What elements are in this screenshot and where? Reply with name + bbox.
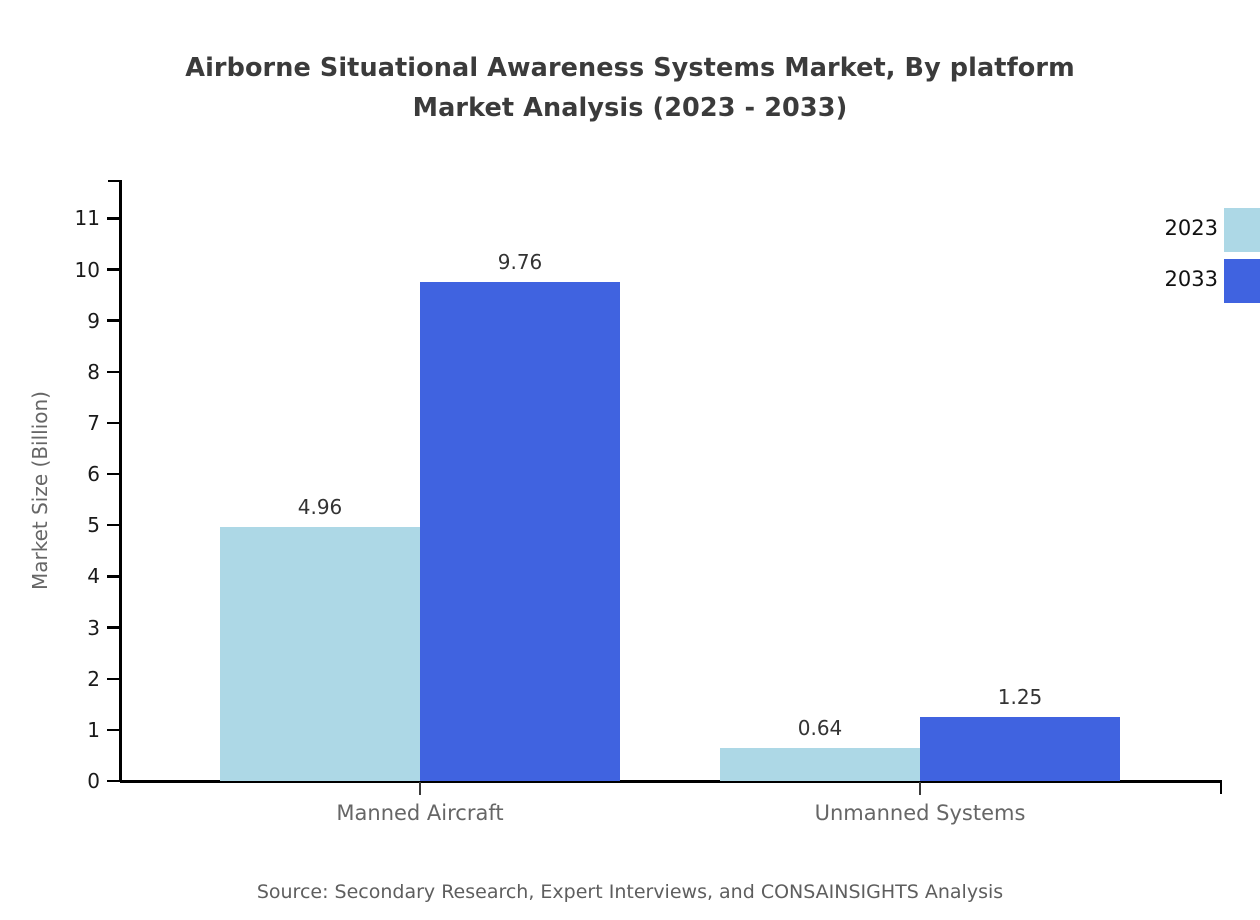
x-axis-right-cap [1220, 781, 1223, 794]
y-tick-mark [107, 575, 120, 577]
y-tick-mark [107, 780, 120, 782]
bar-value-label: 0.64 [720, 715, 920, 741]
y-tick-mark [107, 473, 120, 475]
legend-item-2033[interactable]: 2033 [1110, 259, 1260, 305]
legend-label: 2023 [1110, 214, 1218, 242]
x-tick-label: Unmanned Systems [720, 798, 1120, 828]
legend-item-2023[interactable]: 2023 [1110, 208, 1260, 254]
y-axis-top-cap [108, 180, 122, 182]
x-tick-mark [419, 782, 422, 795]
chart-title-line-2: Market Analysis (2023 - 2033) [0, 88, 1260, 128]
y-tick-mark [107, 524, 120, 526]
y-tick-mark [107, 422, 120, 424]
y-tick-label: 3 [40, 614, 100, 642]
bar-value-label: 9.76 [420, 249, 620, 275]
bar-value-label: 4.96 [220, 494, 420, 520]
bar-2023-unmanned-systems[interactable] [720, 748, 920, 781]
legend-label: 2033 [1110, 265, 1218, 293]
chart-title: Airborne Situational Awareness Systems M… [0, 48, 1260, 128]
y-tick-label: 11 [40, 204, 100, 232]
y-tick-mark [107, 729, 120, 731]
y-tick-label: 7 [40, 409, 100, 437]
x-tick-mark [919, 782, 922, 795]
chart-figure: Airborne Situational Awareness Systems M… [0, 0, 1260, 920]
legend-swatch [1224, 208, 1260, 252]
y-tick-mark [107, 626, 120, 628]
y-tick-label: 6 [40, 460, 100, 488]
y-tick-mark [107, 319, 120, 321]
y-tick-mark [107, 371, 120, 373]
y-tick-mark [107, 217, 120, 219]
bar-2023-manned-aircraft[interactable] [220, 527, 420, 781]
y-tick-label: 0 [40, 767, 100, 795]
bar-2033-manned-aircraft[interactable] [420, 282, 620, 781]
y-tick-label: 1 [40, 716, 100, 744]
bar-2033-unmanned-systems[interactable] [920, 717, 1120, 781]
y-tick-label: 9 [40, 307, 100, 335]
y-tick-mark [107, 678, 120, 680]
x-tick-label: Manned Aircraft [220, 798, 620, 828]
chart-legend: 20232033 [1110, 208, 1260, 308]
source-note: Source: Secondary Research, Expert Inter… [0, 878, 1260, 906]
y-tick-label: 2 [40, 665, 100, 693]
y-tick-label: 4 [40, 562, 100, 590]
y-tick-label: 5 [40, 511, 100, 539]
legend-swatch [1224, 259, 1260, 303]
y-tick-label: 8 [40, 358, 100, 386]
bar-value-label: 1.25 [920, 684, 1120, 710]
y-tick-label: 10 [40, 256, 100, 284]
chart-title-line-1: Airborne Situational Awareness Systems M… [0, 48, 1260, 88]
y-tick-mark [107, 268, 120, 270]
